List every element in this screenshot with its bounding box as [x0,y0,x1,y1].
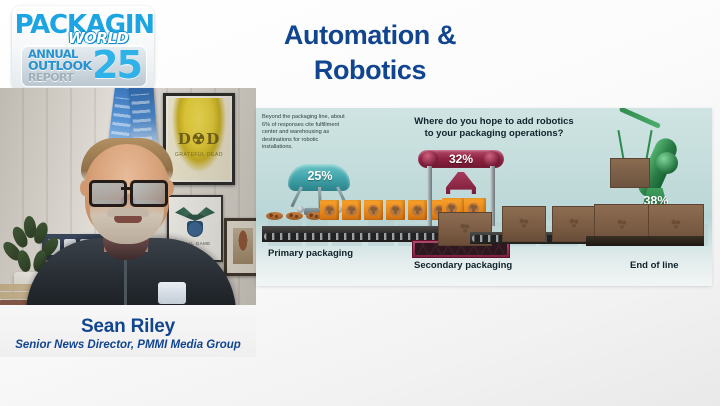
label-secondary-packaging: Secondary packaging [414,260,512,271]
speaker-name: Sean Riley [0,316,256,338]
badge-year-text: 25 [92,44,141,86]
question-line-1: Where do you hope to add robotics [374,116,614,128]
label-primary-packaging: Primary packaging [268,248,353,259]
carton-item [342,200,361,220]
robotics-infographic: Beyond the packaging line, about 6% of r… [256,108,712,286]
secondary-packaging-percent: 32% [418,152,504,166]
speaker-video-feed: D☢D GRATEFUL DEAD FINAL GAME [0,88,256,305]
primary-packaging-percent: 25% [284,169,356,183]
speaker-mouth [114,216,142,223]
case-on-conveyor [502,206,546,242]
speaker-role: Senior News Director, PMMI Media Group [0,339,256,351]
speaker-portrait [0,88,256,305]
handheld-device [158,282,186,304]
infographic-question: Where do you hope to add robotics to you… [374,116,614,140]
speaker-nameplate: Sean Riley Senior News Director, PMMI Me… [0,305,256,357]
loose-cookies-group [266,212,323,220]
badge-report-text: REPORT [28,71,73,84]
carton-item [320,200,339,220]
slide-title: Automation & Robotics [250,18,490,88]
eyeglasses-icon [89,180,165,202]
annual-outlook-badge: ANNUAL OUTLOOK REPORT 25 [21,45,147,87]
carton-item [364,200,383,220]
slide-title-line-1: Automation & [250,18,490,53]
slide-stage: PACKAGING WORLD ANNUAL OUTLOOK REPORT 25… [0,0,720,406]
jacket-zipper [124,256,127,305]
infographic-note: Beyond the packaging line, about 6% of r… [262,114,350,152]
question-line-2: to your packaging operations? [374,128,614,140]
packaging-world-logo: PACKAGING WORLD ANNUAL OUTLOOK REPORT 25 [12,6,154,90]
label-end-of-line: End of line [630,260,679,271]
carton-item [386,200,405,220]
slide-title-line-2: Robotics [250,53,490,88]
pallet [586,236,704,246]
